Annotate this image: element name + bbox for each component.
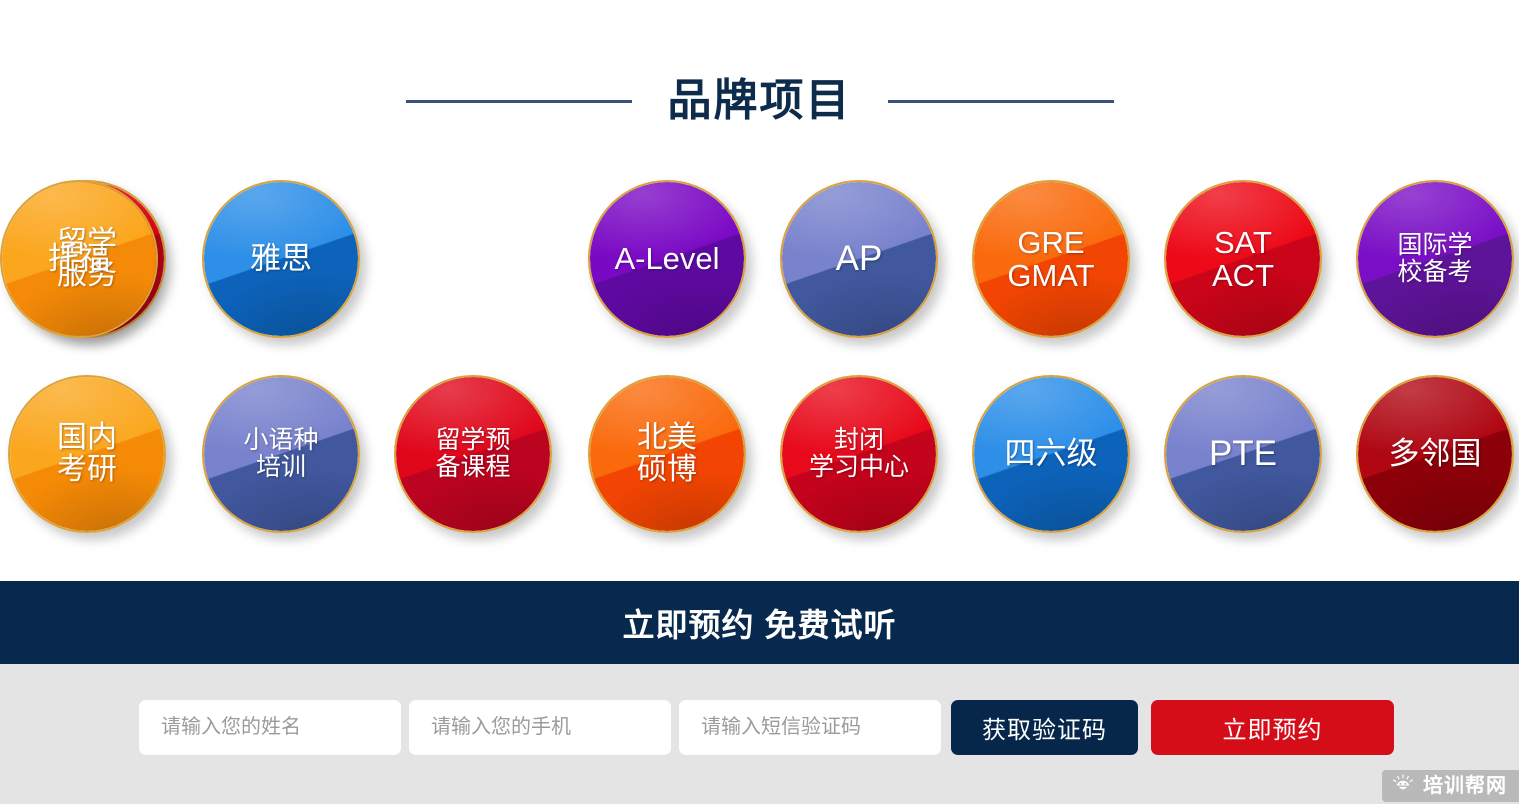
program-grid: 留学 服务 雅思 托福 A-Level AP GRE GMAT SAT ACT … bbox=[0, 180, 1519, 570]
program-label: SAT ACT bbox=[1206, 226, 1280, 293]
program-item-duolinguo[interactable]: 多邻国 bbox=[1356, 375, 1514, 533]
page-title: 品牌项目 bbox=[668, 79, 852, 123]
program-item-beimeishuobo[interactable]: 北美 硕博 bbox=[588, 375, 746, 533]
program-item-guojixuexiao[interactable]: 国际学 校备考 bbox=[1356, 180, 1514, 338]
program-label: 多邻国 bbox=[1383, 437, 1488, 470]
watermark-label: 培训帮网 bbox=[1423, 776, 1507, 796]
program-label: PTE bbox=[1203, 435, 1283, 473]
program-label: 留学预 备课程 bbox=[429, 427, 516, 481]
program-item-fengbixuexi[interactable]: 封闭 学习中心 bbox=[780, 375, 938, 533]
name-input[interactable] bbox=[139, 700, 401, 755]
program-label: A-Level bbox=[608, 242, 725, 275]
cta-banner-text: 立即预约 免费试听 bbox=[623, 600, 897, 646]
program-label: AP bbox=[830, 240, 889, 278]
program-item-siliuji[interactable]: 四六级 bbox=[972, 375, 1130, 533]
program-item-liuxueyubei[interactable]: 留学预 备课程 bbox=[394, 375, 552, 533]
program-item-ap[interactable]: AP bbox=[780, 180, 938, 338]
site-watermark: 培训帮网 bbox=[1382, 770, 1519, 802]
program-label: 雅思 bbox=[244, 242, 318, 275]
program-label: 托福 bbox=[42, 242, 116, 275]
program-row-1: 留学 服务 雅思 托福 A-Level AP GRE GMAT SAT ACT … bbox=[0, 180, 1519, 375]
program-item-xiaoyuzhong[interactable]: 小语种 培训 bbox=[202, 375, 360, 533]
section-heading: 品牌项目 bbox=[0, 62, 1519, 140]
program-item-guoneikaoyan[interactable]: 国内 考研 bbox=[8, 375, 166, 533]
program-item-a-level[interactable]: A-Level bbox=[588, 180, 746, 338]
program-item-sat-act[interactable]: SAT ACT bbox=[1164, 180, 1322, 338]
program-label: GRE GMAT bbox=[1001, 226, 1100, 293]
sms-code-input[interactable] bbox=[679, 700, 941, 755]
program-label: 小语种 培训 bbox=[237, 427, 324, 481]
submit-booking-button[interactable]: 立即预约 bbox=[1151, 700, 1394, 755]
program-label: 国际学 校备考 bbox=[1391, 232, 1478, 286]
program-item-gre-gmat[interactable]: GRE GMAT bbox=[972, 180, 1130, 338]
program-row-2: 国内 考研 小语种 培训 留学预 备课程 北美 硕博 封闭 学习中心 四六级 P… bbox=[0, 375, 1519, 570]
program-label: 封闭 学习中心 bbox=[803, 427, 915, 481]
get-verification-code-button[interactable]: 获取验证码 bbox=[951, 700, 1138, 755]
phone-input[interactable] bbox=[409, 700, 671, 755]
program-item-yasi[interactable]: 雅思 bbox=[202, 180, 360, 338]
cta-banner: 立即预约 免费试听 bbox=[0, 581, 1519, 664]
program-item-tuofu[interactable]: 托福 bbox=[0, 180, 158, 338]
booking-form-strip: 获取验证码 立即预约 bbox=[0, 664, 1519, 804]
brand-programs-page: 品牌项目 留学 服务 雅思 托福 A-Level AP GRE GMAT SAT… bbox=[0, 0, 1519, 804]
booking-form: 获取验证码 立即预约 bbox=[139, 700, 1394, 755]
heading-rule-left bbox=[406, 100, 632, 103]
program-item-pte[interactable]: PTE bbox=[1164, 375, 1322, 533]
heading-rule-right bbox=[888, 100, 1114, 103]
sun-face-icon bbox=[1392, 773, 1414, 800]
program-label: 国内 考研 bbox=[51, 422, 123, 487]
program-label: 北美 硕博 bbox=[631, 422, 703, 487]
program-label: 四六级 bbox=[999, 437, 1104, 470]
